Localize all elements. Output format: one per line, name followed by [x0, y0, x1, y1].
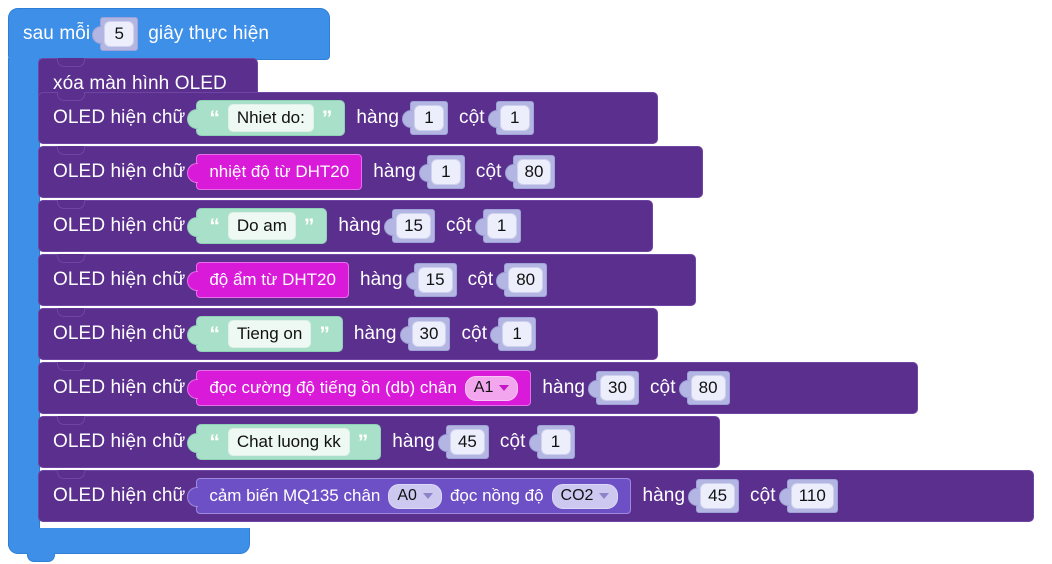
col-input[interactable]: 1 — [487, 213, 517, 239]
dht20-humidity-reporter[interactable]: độ ẩm từ DHT20 — [196, 262, 349, 298]
oled-print-label: OLED hiện chữ — [53, 431, 185, 453]
mq135-gas-dropdown[interactable]: CO2 — [552, 484, 619, 509]
row-slot[interactable]: 1 — [410, 101, 448, 135]
row-label: hàng — [360, 269, 403, 291]
table-row[interactable]: OLED hiện chữ cảm biến MQ135 chân A0 đọc… — [38, 470, 1034, 522]
dht20-temperature-reporter[interactable]: nhiệt độ từ DHT20 — [196, 154, 362, 190]
sensor-label: nhiệt độ từ DHT20 — [209, 162, 349, 182]
sensor-label-secondary: đọc nồng độ — [450, 486, 544, 506]
row-slot[interactable]: 1 — [427, 155, 465, 189]
string-input[interactable]: Tieng on — [228, 320, 312, 348]
interval-input[interactable]: 5 — [104, 21, 134, 47]
row-label: hàng — [354, 323, 397, 345]
table-row[interactable]: OLED hiện chữ độ ẩm từ DHT20 hàng 15 cột… — [38, 254, 696, 306]
c-block-left-arm — [8, 58, 40, 546]
col-slot[interactable]: 80 — [687, 371, 730, 405]
hat-label-before: sau mỗi — [23, 23, 90, 45]
col-label: cột — [461, 323, 487, 345]
sound-pin-dropdown[interactable]: A1 — [465, 376, 519, 401]
string-reporter[interactable]: “ Nhiet do: ” — [196, 100, 345, 136]
oled-print-label: OLED hiện chữ — [53, 107, 185, 129]
interval-slot[interactable]: 5 — [100, 17, 138, 51]
col-input[interactable]: 110 — [791, 483, 834, 509]
row-label: hàng — [373, 161, 416, 183]
string-reporter[interactable]: “ Chat luong kk ” — [196, 424, 381, 460]
table-row[interactable]: OLED hiện chữ “ Tieng on ” hàng 30 cột 1 — [38, 308, 658, 360]
col-slot[interactable]: 1 — [537, 425, 575, 459]
col-slot[interactable]: 110 — [787, 479, 838, 513]
row-slot[interactable]: 45 — [696, 479, 739, 513]
row-slot[interactable]: 15 — [392, 209, 435, 243]
oled-print-label: OLED hiện chữ — [53, 485, 185, 507]
row-label: hàng — [542, 377, 585, 399]
col-input[interactable]: 80 — [691, 375, 726, 401]
col-input[interactable]: 1 — [500, 105, 530, 131]
row-slot[interactable]: 15 — [414, 263, 457, 297]
sensor-label: độ ẩm từ DHT20 — [209, 270, 336, 290]
col-input[interactable]: 1 — [502, 321, 532, 347]
col-input[interactable]: 80 — [517, 159, 552, 185]
col-label: cột — [476, 161, 502, 183]
chevron-down-icon — [499, 385, 509, 391]
col-slot[interactable]: 80 — [504, 263, 547, 297]
table-row[interactable]: OLED hiện chữ đọc cường độ tiếng ồn (db)… — [38, 362, 918, 414]
col-label: cột — [750, 485, 776, 507]
hat-block-every-seconds[interactable]: sau mỗi 5 giây thực hiện — [8, 8, 330, 60]
row-input[interactable]: 15 — [396, 213, 431, 239]
table-row[interactable]: OLED hiện chữ “ Do am ” hàng 15 cột 1 — [38, 200, 653, 252]
row-input[interactable]: 1 — [414, 105, 444, 131]
string-reporter[interactable]: “ Tieng on ” — [196, 316, 343, 352]
row-input[interactable]: 1 — [431, 159, 461, 185]
string-reporter[interactable]: “ Do am ” — [196, 208, 327, 244]
string-input[interactable]: Do am — [228, 212, 296, 240]
quote-open-icon: “ — [209, 108, 220, 129]
sensor-label: cảm biến MQ135 chân — [209, 486, 380, 506]
col-label: cột — [468, 269, 494, 291]
col-input[interactable]: 80 — [508, 267, 543, 293]
sound-level-reporter[interactable]: đọc cường độ tiếng ồn (db) chân A1 — [196, 370, 531, 406]
quote-open-icon: “ — [209, 324, 220, 345]
row-label: hàng — [392, 431, 435, 453]
oled-print-label: OLED hiện chữ — [53, 377, 185, 399]
mq135-pin-value: A0 — [397, 487, 417, 505]
quote-close-icon: ” — [304, 216, 315, 237]
chevron-down-icon — [423, 493, 433, 499]
table-row[interactable]: OLED hiện chữ “ Chat luong kk ” hàng 45 … — [38, 416, 720, 468]
row-input[interactable]: 45 — [450, 429, 485, 455]
col-slot[interactable]: 1 — [496, 101, 534, 135]
quote-close-icon: ” — [358, 432, 369, 453]
quote-open-icon: “ — [209, 432, 220, 453]
col-slot[interactable]: 1 — [483, 209, 521, 243]
quote-open-icon: “ — [209, 216, 220, 237]
oled-print-label: OLED hiện chữ — [53, 269, 185, 291]
quote-close-icon: ” — [322, 108, 333, 129]
chevron-down-icon — [599, 493, 609, 499]
quote-close-icon: ” — [319, 324, 330, 345]
c-block-foot — [8, 528, 250, 554]
string-input[interactable]: Nhiet do: — [228, 104, 314, 132]
row-input[interactable]: 45 — [700, 483, 735, 509]
oled-print-label: OLED hiện chữ — [53, 215, 185, 237]
col-slot[interactable]: 1 — [498, 317, 536, 351]
row-input[interactable]: 30 — [412, 321, 447, 347]
oled-print-label: OLED hiện chữ — [53, 323, 185, 345]
col-label: cột — [446, 215, 472, 237]
row-slot[interactable]: 30 — [408, 317, 451, 351]
col-label: cột — [500, 431, 526, 453]
row-slot[interactable]: 30 — [596, 371, 639, 405]
hat-label-after: giây thực hiện — [148, 23, 269, 45]
row-slot[interactable]: 45 — [446, 425, 489, 459]
mq135-gas-value: CO2 — [561, 487, 594, 505]
mq135-pin-dropdown[interactable]: A0 — [388, 484, 442, 509]
string-input[interactable]: Chat luong kk — [228, 428, 350, 456]
table-row[interactable]: OLED hiện chữ “ Nhiet do: ” hàng 1 cột 1 — [38, 92, 658, 144]
row-label: hàng — [356, 107, 399, 129]
oled-print-label: OLED hiện chữ — [53, 161, 185, 183]
col-label: cột — [650, 377, 676, 399]
blockly-workspace: sau mỗi 5 giây thực hiện xóa màn hình OL… — [0, 0, 1052, 564]
row-label: hàng — [642, 485, 685, 507]
row-input[interactable]: 15 — [418, 267, 453, 293]
col-label: cột — [459, 107, 485, 129]
mq135-reporter[interactable]: cảm biến MQ135 chân A0 đọc nồng độ CO2 — [196, 478, 631, 514]
row-label: hàng — [338, 215, 381, 237]
row-input[interactable]: 30 — [600, 375, 635, 401]
sound-pin-value: A1 — [474, 379, 494, 397]
table-row[interactable]: OLED hiện chữ nhiệt độ từ DHT20 hàng 1 c… — [38, 146, 703, 198]
col-input[interactable]: 1 — [541, 429, 571, 455]
col-slot[interactable]: 80 — [513, 155, 556, 189]
sensor-label: đọc cường độ tiếng ồn (db) chân — [209, 378, 456, 398]
